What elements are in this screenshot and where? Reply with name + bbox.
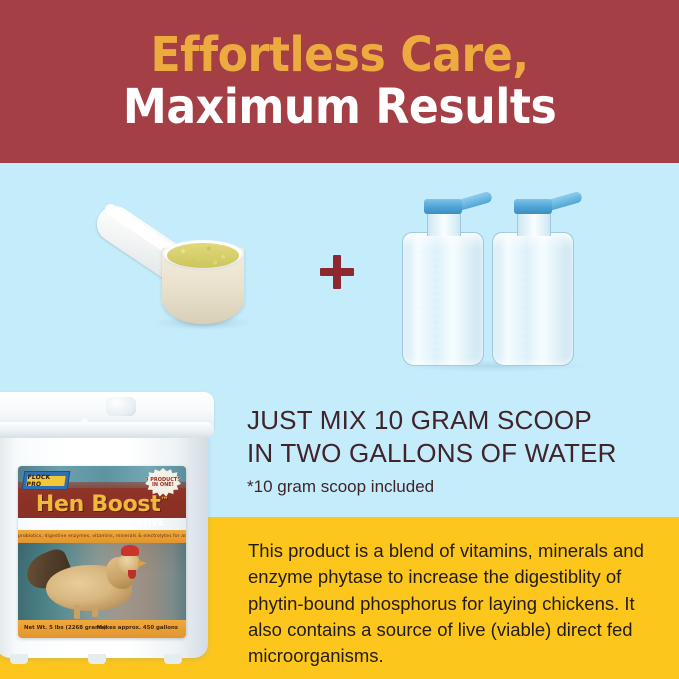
pail-foot xyxy=(88,654,106,664)
pail-lid-lip xyxy=(0,422,214,438)
product-infographic: Effortless Care, Maximum Results xyxy=(0,0,679,679)
hen-wattle xyxy=(128,570,136,579)
mix-instruction-line-1: JUST MIX 10 GRAM SCOOP xyxy=(247,404,667,437)
scoop-included-note: *10 gram scoop included xyxy=(247,477,667,497)
pail-lid-latch xyxy=(106,397,136,416)
label-title-text: Hen Boost xyxy=(36,492,161,517)
label-tagline-strip: A blend of probiotics, digestive enzymes… xyxy=(18,530,186,543)
label-footer-strip: Net Wt. 5 lbs (2268 grams) Makes approx.… xyxy=(18,620,186,638)
scoop-powder-fill xyxy=(167,243,239,268)
label-hen-photo xyxy=(18,543,186,620)
hen-beak xyxy=(138,560,147,567)
water-jugs-illustration xyxy=(398,192,588,372)
jug-cap xyxy=(424,199,462,214)
water-jug-left xyxy=(402,232,484,366)
measuring-scoop-illustration xyxy=(92,190,292,335)
plus-icon xyxy=(320,255,354,289)
flock-pro-brand-badge: FLOCK PRO xyxy=(22,471,71,490)
water-jug-right xyxy=(492,232,574,366)
label-tagline-text: A blend of probiotics, digestive enzymes… xyxy=(18,534,186,539)
mix-instruction-line-2: IN TWO GALLONS OF WATER xyxy=(247,437,667,470)
hen-leg xyxy=(74,605,80,619)
jug-neck xyxy=(427,211,461,236)
product-description: This product is a blend of vitamins, min… xyxy=(248,538,648,669)
pail-foot xyxy=(10,654,28,664)
jug-neck xyxy=(517,211,551,236)
product-label: FLOCK PRO 3 PRODUCTS IN ONE! Hen Boost™ … xyxy=(18,466,186,638)
label-net-weight: Net Wt. 5 lbs (2268 grams) xyxy=(24,625,106,631)
trademark-symbol: ™ xyxy=(160,496,168,505)
product-description-text: This product is a blend of vitamins, min… xyxy=(248,538,648,669)
burst-line-2: IN ONE! xyxy=(152,483,174,489)
hen-comb xyxy=(121,545,139,556)
jug-cap xyxy=(514,199,552,214)
brand-badge-text: FLOCK PRO xyxy=(26,476,65,486)
headline-primary: Effortless Care, xyxy=(150,31,528,80)
header-band: Effortless Care, Maximum Results xyxy=(0,0,679,163)
mix-instructions: JUST MIX 10 GRAM SCOOP IN TWO GALLONS OF… xyxy=(247,404,667,497)
headline-secondary: Maximum Results xyxy=(123,82,557,132)
label-yield: Makes approx. 450 gallons xyxy=(97,625,178,631)
hen-leg xyxy=(92,605,98,617)
label-product-title: Hen Boost™ xyxy=(18,492,186,517)
pail-foot xyxy=(164,654,182,664)
